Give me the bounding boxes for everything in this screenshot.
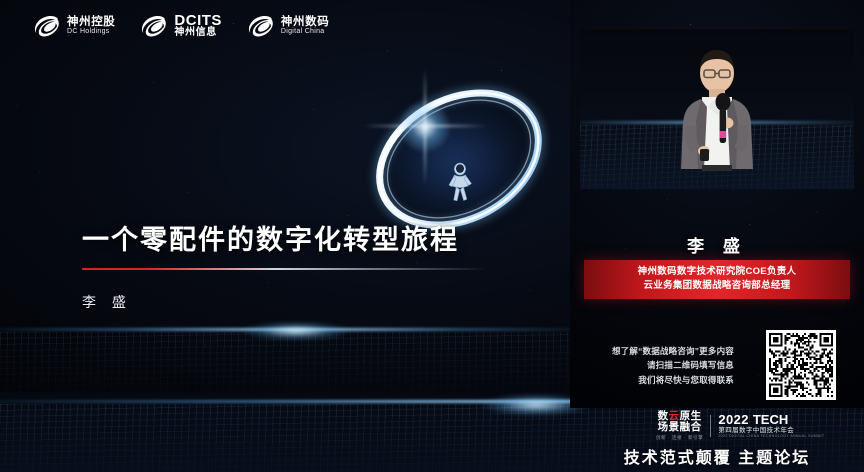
qr-line-2: 请扫描二维码填写信息 [584,358,734,372]
speaker-panel: 李 盛 神州数码数字技术研究院COE负责人 云业务集团数据战略咨询部总经理 想了… [570,0,864,408]
logo-dcits: DCITS 神州信息 [141,13,222,39]
event-logo-slogan: 数云原生 场景融合 创新 · 连接 · 新引擎 [656,411,703,441]
swoosh-icon [141,15,167,37]
speaker-name: 李 盛 [570,232,864,257]
slide-horizon [0,306,570,392]
slide-title: 一个零配件的数字化转型旅程 [82,218,487,257]
logo-dc-holdings: 神州控股 DC Holdings [34,15,115,37]
qr-instructions: 想了解“数据战略咨询”更多内容 请扫描二维码填写信息 我们将尽快与您取得联系 [584,344,734,387]
speaker-title-banner: 神州数码数字技术研究院COE负责人 云业务集团数据战略咨询部总经理 [584,260,850,299]
qr-code[interactable] [766,330,836,400]
logo-digital-china: 神州数码 Digital China [248,15,329,37]
presenter-video[interactable] [580,29,854,189]
event-slogan-line-2: 场景融合 [658,422,702,433]
event-logo-title: 2022 TECH 第四届数字中国技术年会 2022 DIGITAL CHINA… [718,413,824,438]
event-name-en: 2022 DIGITAL CHINA TECHNOLOGY ANNUAL SUM… [718,435,824,439]
logo-dc-holdings-en: DC Holdings [67,28,115,35]
event-bottom-bar: 数云原生 场景融合 创新 · 连接 · 新引擎 2022 TECH 第四届数字中… [570,408,864,472]
event-tagline: 创新 · 连接 · 新引擎 [656,436,703,441]
astronaut-icon [447,162,473,206]
presenter-figure [657,39,777,189]
logo-digital-china-cn: 神州数码 [281,16,329,28]
logo-dcits-text: DCITS 神州信息 [174,13,222,39]
forum-title: 技术范式颠覆 主题论坛 [570,444,864,468]
presentation-slide[interactable]: 一个零配件的数字化转型旅程 李 盛 [0,0,570,392]
speaker-title-line-2: 云业务集团数据战略咨询部总经理 [584,279,850,293]
qr-line-1: 想了解“数据战略咨询”更多内容 [584,344,734,358]
logo-dc-holdings-cn: 神州控股 [67,16,115,28]
swoosh-icon [248,15,274,37]
slide-speaker-name: 李 盛 [82,292,487,312]
event-logo-divider [710,415,711,437]
brand-logo-bar: 神州控股 DC Holdings DCITS 神州信息 神州数码 Digital… [0,0,570,52]
title-underline [82,268,487,270]
swoosh-icon [34,15,60,37]
slide-data-grid [0,332,570,392]
logo-digital-china-text: 神州数码 Digital China [281,16,329,35]
qr-line-3: 我们将尽快与您取得联系 [584,373,734,387]
logo-dcits-cn: 神州信息 [174,28,222,39]
qr-promo-block: 想了解“数据战略咨询”更多内容 请扫描二维码填写信息 我们将尽快与您取得联系 [584,330,850,402]
logo-dcits-word: DCITS [174,13,222,28]
slide-title-block: 一个零配件的数字化转型旅程 李 盛 [82,218,487,312]
event-year-tech: 2022 TECH [718,413,824,427]
speaker-title-line-1: 神州数码数字技术研究院COE负责人 [584,265,850,279]
logo-dc-holdings-text: 神州控股 DC Holdings [67,16,115,35]
event-logo: 数云原生 场景融合 创新 · 连接 · 新引擎 2022 TECH 第四届数字中… [656,411,824,441]
logo-digital-china-en: Digital China [281,28,329,35]
ring-lens-flare [388,90,462,164]
webinar-stage: 一个零配件的数字化转型旅程 李 盛 神州控股 DC Holdings DCITS… [0,0,864,472]
